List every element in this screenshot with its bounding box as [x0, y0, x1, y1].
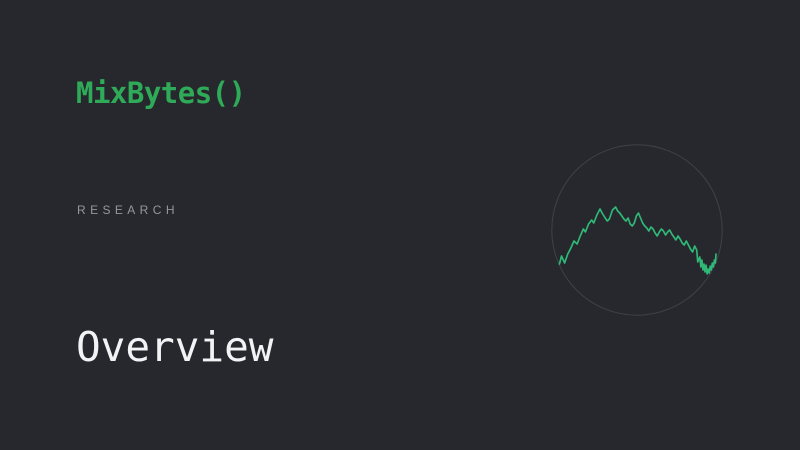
circular-sparkline-badge	[551, 144, 723, 316]
research-title-slide: MixBytes() RESEARCH Overview of the Infl…	[0, 0, 800, 450]
badge-ring-circle	[552, 145, 722, 315]
category-eyebrow-label: RESEARCH	[77, 204, 179, 216]
mixbytes-logo[interactable]: MixBytes()	[76, 79, 246, 108]
page-title: Overview of the Inflation Attack	[76, 240, 471, 450]
sparkline-path	[559, 207, 716, 274]
page-title-line-1: Overview	[76, 326, 471, 369]
